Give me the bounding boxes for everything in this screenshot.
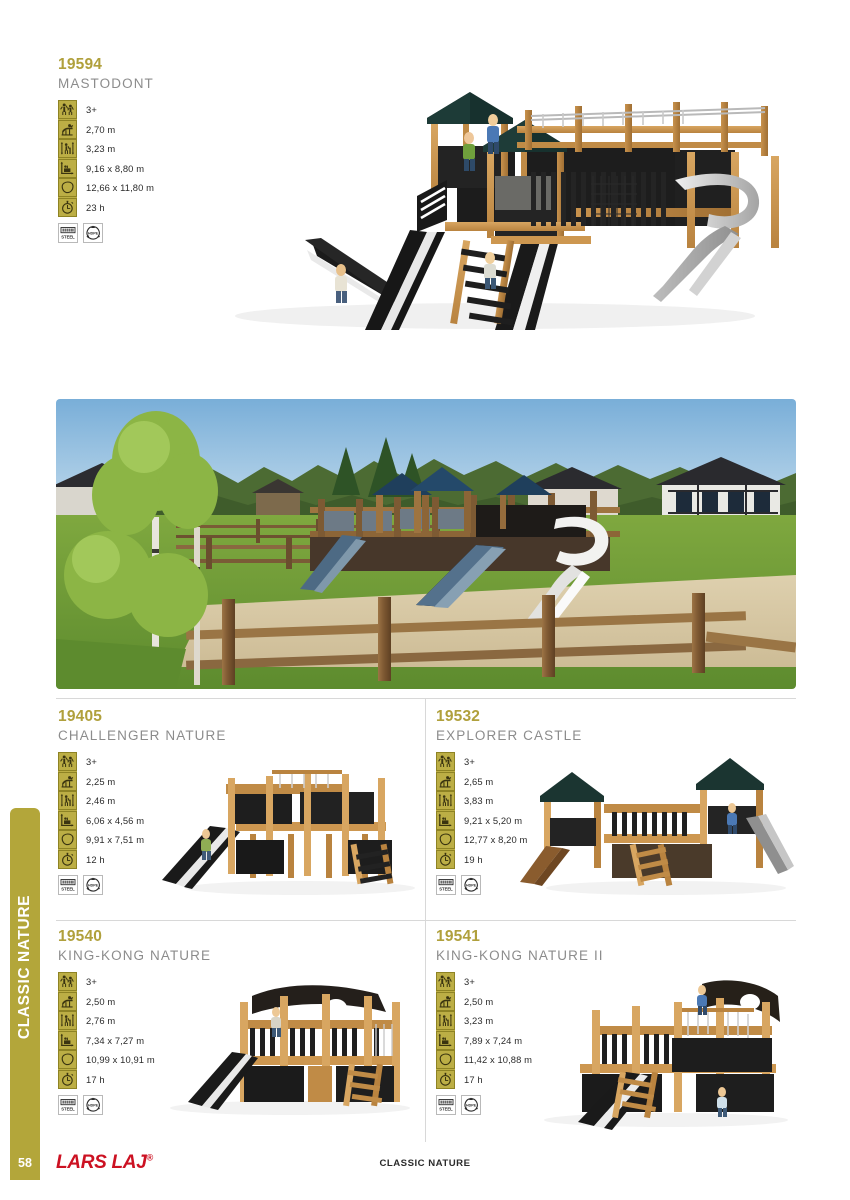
spec-value-install: 17 h <box>464 1075 483 1084</box>
install-time-icon <box>58 1070 77 1089</box>
svg-text:STEEL: STEEL <box>61 887 75 892</box>
spec-value-age: 3+ <box>464 757 475 766</box>
spec-value-dimensions: 7,89 x 7,24 m <box>464 1036 522 1045</box>
spec-value-age: 3+ <box>86 977 97 986</box>
product-render-19532 <box>516 748 796 898</box>
install-time-icon <box>436 1070 455 1089</box>
spec-value-fall: 2,65 m <box>464 777 493 786</box>
spec-value-dimensions: 9,16 x 8,80 m <box>86 164 144 173</box>
total-height-icon <box>58 791 77 810</box>
spec-value-dimensions: 7,34 x 7,27 m <box>86 1036 144 1045</box>
spec-value-height: 2,76 m <box>86 1016 115 1025</box>
spec-value-safety: 12,66 x 11,80 m <box>86 183 154 192</box>
safety-zone-icon <box>436 1050 455 1069</box>
product-number: 19405 <box>58 708 418 726</box>
wow-steel-badge: STEEL <box>58 875 78 895</box>
spec-value-age: 3+ <box>86 757 97 766</box>
hdpe-recycle-badge: HDPE <box>83 223 103 243</box>
spec-value-height: 3,83 m <box>464 796 493 805</box>
wow-steel-badge: STEEL <box>436 1095 456 1115</box>
grid-divider-middle <box>56 920 796 921</box>
safety-zone-icon <box>58 830 77 849</box>
fall-height-icon <box>58 992 77 1011</box>
age-group-icon <box>436 972 455 991</box>
section-side-tab-label: CLASSIC NATURE <box>16 895 34 1039</box>
spec-value-fall: 2,50 m <box>464 997 493 1006</box>
spec-value-fall: 2,25 m <box>86 777 115 786</box>
install-time-icon <box>58 850 77 869</box>
spec-value-fall: 2,50 m <box>86 997 115 1006</box>
safety-zone-icon <box>436 830 455 849</box>
spec-value-install: 12 h <box>86 855 105 864</box>
total-height-icon <box>436 1011 455 1030</box>
product-render-19541 <box>516 968 796 1133</box>
fall-height-icon <box>58 120 77 139</box>
spec-value-dimensions: 9,21 x 5,20 m <box>464 816 522 825</box>
footer-section-title: CLASSIC NATURE <box>0 1158 850 1169</box>
product-name: EXPLORER CASTLE <box>436 728 796 743</box>
catalog-page: CLASSIC NATURE 58 19594 MASTODONT 3+ <box>0 0 850 1200</box>
hdpe-recycle-badge: HDPE <box>83 875 103 895</box>
total-height-icon <box>436 791 455 810</box>
spec-value-safety: 9,91 x 7,51 m <box>86 835 144 844</box>
svg-text:HDPE: HDPE <box>466 883 477 887</box>
svg-text:HDPE: HDPE <box>88 883 99 887</box>
age-group-icon <box>58 972 77 991</box>
hero-product-number: 19594 <box>58 56 800 74</box>
wow-steel-badge: STEEL <box>58 223 78 243</box>
safety-zone-icon <box>58 1050 77 1069</box>
spec-value-fall: 2,70 m <box>86 125 115 134</box>
spec-value-age: 3+ <box>86 105 97 114</box>
section-side-tab: CLASSIC NATURE 58 <box>10 808 40 1180</box>
figure-child-4 <box>487 114 499 154</box>
wow-steel-badge: STEEL <box>436 875 456 895</box>
install-time-icon <box>58 198 77 217</box>
product-number: 19541 <box>436 928 796 946</box>
svg-text:STEEL: STEEL <box>61 235 75 240</box>
figure-child <box>335 264 347 303</box>
product-name: KING-KONG NATURE <box>58 948 418 963</box>
figure-child-3 <box>463 132 475 171</box>
fall-height-icon <box>58 772 77 791</box>
spec-value-install: 23 h <box>86 203 105 212</box>
hdpe-recycle-badge: HDPE <box>461 875 481 895</box>
product-name: KING-KONG NATURE II <box>436 948 796 963</box>
grid-divider-top <box>56 698 796 699</box>
svg-text:STEEL: STEEL <box>439 887 453 892</box>
spec-value-age: 3+ <box>464 977 475 986</box>
spec-value-dimensions: 6,06 x 4,56 m <box>86 816 144 825</box>
installation-photo <box>56 399 796 689</box>
product-number: 19540 <box>58 928 418 946</box>
wow-steel-badge: STEEL <box>58 1095 78 1115</box>
fall-height-icon <box>436 772 455 791</box>
age-group-icon <box>58 752 77 771</box>
hero-product-render <box>195 80 800 335</box>
spec-value-height: 3,23 m <box>86 144 115 153</box>
dimensions-icon <box>58 811 77 830</box>
grid-divider-vertical <box>425 698 426 1142</box>
age-group-icon <box>58 100 77 119</box>
svg-text:STEEL: STEEL <box>61 1107 75 1112</box>
spec-value-install: 17 h <box>86 1075 105 1084</box>
hdpe-recycle-badge: HDPE <box>461 1095 481 1115</box>
svg-text:STEEL: STEEL <box>439 1107 453 1112</box>
svg-text:HDPE: HDPE <box>88 1103 99 1107</box>
svg-text:HDPE: HDPE <box>466 1103 477 1107</box>
total-height-icon <box>58 139 77 158</box>
product-render-19540 <box>140 968 420 1118</box>
age-group-icon <box>436 752 455 771</box>
spec-value-install: 19 h <box>464 855 483 864</box>
total-height-icon <box>58 1011 77 1030</box>
product-name: CHALLENGER NATURE <box>58 728 418 743</box>
fall-height-icon <box>436 992 455 1011</box>
spec-value-height: 2,46 m <box>86 796 115 805</box>
dimensions-icon <box>58 1031 77 1050</box>
dimensions-icon <box>436 1031 455 1050</box>
product-render-19405 <box>140 748 420 898</box>
hdpe-recycle-badge: HDPE <box>83 1095 103 1115</box>
dimensions-icon <box>58 159 77 178</box>
install-time-icon <box>436 850 455 869</box>
figure-child-2 <box>484 252 496 289</box>
spec-value-height: 3,23 m <box>464 1016 493 1025</box>
safety-zone-icon <box>58 178 77 197</box>
dimensions-icon <box>436 811 455 830</box>
product-number: 19532 <box>436 708 796 726</box>
svg-text:HDPE: HDPE <box>88 231 99 235</box>
